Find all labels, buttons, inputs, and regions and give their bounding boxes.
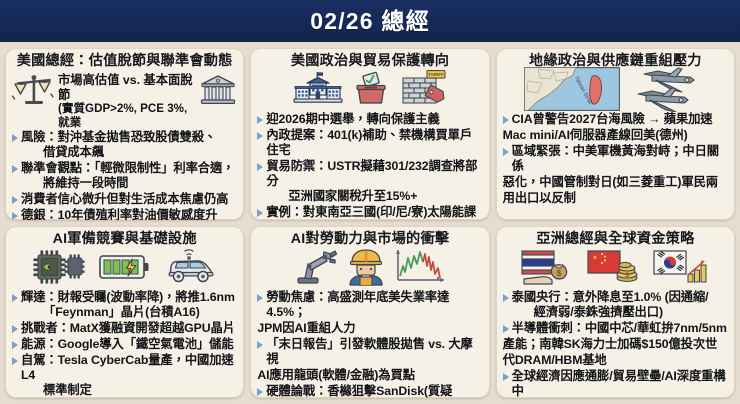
worker-icon: [348, 248, 384, 291]
bullet-marker-icon: [257, 163, 263, 171]
bullet-marker-icon: [12, 294, 18, 302]
card-icon-row: [12, 249, 237, 289]
bullet-text: 自駕：Tesla CyberCab量產，中國加速L4: [21, 353, 234, 382]
bullet-marker-icon: [257, 209, 263, 217]
bullet-text: CIA曾警告2027台海風險 → 蘋果加速: [512, 112, 728, 127]
china-flag-coins-icon: $: [586, 248, 642, 291]
ballot-box-icon: [353, 71, 389, 112]
card-asia-macro-capital: 亞洲總經與全球資金策略 $: [496, 226, 735, 398]
card-title: 美國政治與貿易保護轉向: [257, 53, 482, 69]
bullet-list: 輝達：財報受矚(波動率降)，將推1.6nm「Feynman」晶片(台積A16) …: [12, 290, 237, 398]
list-item: AI應用龍頭(軟體/金融)為買點: [257, 368, 482, 383]
bullet-marker-icon: [257, 132, 263, 140]
bullet-text: 「末日報告」引發軟體股拋售 vs. 大摩視: [266, 337, 482, 367]
cards-grid: 美國總經：估值脫節與聯準會動態: [0, 42, 740, 404]
bullet-marker-icon: [12, 212, 18, 220]
bullet-marker-icon: [12, 357, 18, 365]
card-icon-row: 市場高估值 vs. 基本面脫節 (實質GDP>2%, PCE 3%, 就業: [12, 71, 237, 129]
list-item: 產能；南韓SK海力士加碼$150億投次世: [503, 337, 728, 352]
bullet-text: 泰國央行：意外降息至1.0% (因通縮/: [512, 290, 709, 304]
fighter-jets-icon: [630, 66, 706, 117]
bullet-marker-icon: [503, 294, 509, 302]
svg-text:$: $: [626, 272, 630, 279]
card-geopolitics-supply-chain: 地緣政治與供應鏈重組壓力 Taiwan Strait: [496, 48, 735, 220]
bullet-text-cont: 「Feynman」晶片(台積A16): [21, 305, 237, 320]
bullet-text-cont: 亞洲國家關稅升至15%+: [266, 189, 482, 204]
list-item: 風險：對沖基金拋售恐致股債雙殺、借貸成本飆: [12, 130, 237, 160]
bullet-marker-icon: [503, 373, 509, 381]
thai-flag-money-icon: $: [520, 248, 576, 291]
list-item: 代DRAM/HBM基地: [503, 353, 728, 368]
bullet-text: 勞動焦慮：高盛測年底美失業率達4.5%；: [266, 290, 482, 320]
bullet-marker-icon: [12, 325, 18, 333]
bullet-marker-icon: [257, 388, 263, 396]
list-item: 泰國央行：意外降息至1.0% (因通縮/經濟弱/泰銖強擠壓出口): [503, 290, 728, 320]
bullet-text: 輝達：財報受矚(波動率降)，將推1.6nm: [21, 290, 235, 304]
list-item: 挑戰者：MatX獲融資開發超越GPU晶片: [12, 321, 237, 336]
korea-flag-chart-icon: [652, 248, 710, 291]
bullet-text: 德銀：10年債殖利率對油價敏感度升: [21, 208, 237, 220]
bullet-text-cont: 標準制定: [21, 383, 237, 398]
list-item: 惡化，中國管制對日(如三菱重工)軍民兩: [503, 175, 728, 190]
lead-line-1: 市場高估值 vs. 基本面脫節: [58, 73, 197, 102]
list-item: 半導體衝刺：中國中芯/華虹拚7nm/5nm: [503, 321, 728, 336]
svg-text:$: $: [557, 269, 562, 278]
list-item: 「末日報告」引發軟體股拋售 vs. 大摩視: [257, 337, 482, 367]
card-icon-row: $: [503, 249, 728, 289]
card-title: AI軍備競賽與基礎設施: [12, 231, 237, 247]
list-item: 貿易防禦：USTR擬藉301/232調查將部分亞洲國家關稅升至15%+: [257, 159, 482, 204]
list-item: 實例：對東南亞三國(印/尼/寮)太陽能課徵80-143%反補貼稅以防堵中國: [257, 205, 482, 220]
bank-building-icon: [199, 74, 237, 112]
bullet-text: 貿易防禦：USTR擬藉301/232調查將部分: [266, 159, 477, 188]
bullet-list: 風險：對沖基金拋售恐致股債雙殺、借貸成本飆 聯準會觀點：「輕微限制性」利率合適，…: [12, 130, 237, 220]
bullet-text: 全球經濟因應通膨/貿易壁壘/AI深度重構中: [512, 369, 728, 398]
bullet-list: 迎2026期中選舉，轉向保護主義 內政提案：401(k)補助、禁機構買單戶住宅 …: [257, 112, 482, 220]
list-item: 全球經濟因應通膨/貿易壁壘/AI深度重構中: [503, 369, 728, 398]
bullet-marker-icon: [503, 116, 509, 124]
card-us-politics-trade: 美國政治與貿易保護轉向: [250, 48, 489, 220]
bullet-list: 泰國央行：意外降息至1.0% (因通縮/經濟弱/泰銖強擠壓出口) 半導體衝刺：中…: [503, 290, 728, 398]
bullet-marker-icon: [257, 116, 263, 124]
card-title: 美國總經：估值脫節與聯準會動態: [12, 53, 237, 69]
bullet-text: 消費者信心微升但對生活成本焦慮仍高: [21, 192, 237, 207]
card-icon-row: TARIFF: [257, 71, 482, 111]
list-item: 聯準會觀點：「輕微限制性」利率合適，將維持一段時間: [12, 161, 237, 191]
list-item: Mac mini/AI伺服器產線回美(德州): [503, 128, 728, 143]
bullet-marker-icon: [503, 325, 509, 333]
bullet-text: 內政提案：401(k)補助、禁機構買單戶住宅: [266, 128, 482, 158]
bullet-text: JPM因AI重組人力: [257, 321, 482, 336]
list-item: 硬體論戰：香櫞狙擊SanDisk(質疑NAND: [257, 384, 482, 398]
bullet-text: 產能；南韓SK海力士加碼$150億投次世: [503, 337, 728, 352]
bullet-text-cont: 將維持一段時間: [21, 176, 237, 191]
bullet-text-cont: 借貸成本飆: [21, 145, 237, 160]
bullet-text: 區域緊張：中美軍機黃海對峙；中日關係: [512, 144, 728, 174]
bullet-text: 硬體論戰：香櫞狙擊SanDisk(質疑NAND: [266, 384, 482, 398]
list-item: 自駕：Tesla CyberCab量產，中國加速L4標準制定: [12, 353, 237, 398]
page-title: 02/26 總經: [310, 10, 430, 33]
bullet-text-cont: 經濟弱/泰銖強擠壓出口): [512, 305, 728, 320]
bullet-text: 風險：對沖基金拋售恐致股債雙殺、: [21, 130, 216, 144]
list-item: 輝達：財報受矚(波動率降)，將推1.6nm「Feynman」晶片(台積A16): [12, 290, 237, 320]
card-title: AI對勞動力與市場的衝擊: [257, 231, 482, 247]
card-us-macro: 美國總經：估值脫節與聯準會動態: [5, 48, 244, 220]
page-header: 02/26 總經: [0, 0, 740, 42]
card-lead-text: 市場高估值 vs. 基本面脫節 (實質GDP>2%, PCE 3%, 就業: [58, 71, 237, 129]
list-item: 用出口以反制: [503, 191, 728, 206]
list-item: 能源：Google導入「鐵空氣電池」儲能: [12, 337, 237, 352]
balance-scale-icon: [12, 72, 56, 115]
bullet-text: 迎2026期中選舉，轉向保護主義: [266, 112, 482, 127]
white-house-icon: [293, 71, 343, 112]
list-item: 內政提案：401(k)補助、禁機構買單戶住宅: [257, 128, 482, 158]
card-ai-labor-market: AI對勞動力與市場的衝擊: [250, 226, 489, 398]
bullet-text: 聯準會觀點：「輕微限制性」利率合適，: [21, 161, 234, 175]
bullet-list: 勞動焦慮：高盛測年底美失業率達4.5%； JPM因AI重組人力 「末日報告」引發…: [257, 290, 482, 398]
bullet-text: 能源：Google導入「鐵空氣電池」儲能: [21, 337, 237, 352]
bullet-marker-icon: [503, 148, 509, 156]
card-ai-arms-race: AI軍備競賽與基礎設施: [5, 226, 244, 398]
bullet-marker-icon: [12, 341, 18, 349]
list-item: CIA曾警告2027台海風險 → 蘋果加速: [503, 112, 728, 127]
bullet-marker-icon: [12, 196, 18, 204]
taiwan-strait-map-icon: Taiwan Strait: [524, 67, 620, 116]
card-title: 亞洲總經與全球資金策略: [503, 231, 728, 247]
bullet-text: 代DRAM/HBM基地: [503, 353, 728, 368]
lead-line-2: (實質GDP>2%, PCE 3%, 就業: [58, 102, 197, 129]
bullet-text: 挑戰者：MatX獲融資開發超越GPU晶片: [21, 321, 237, 336]
cpu-chip-icon: [32, 249, 88, 290]
bullet-text: Mac mini/AI伺服器產線回美(德州): [503, 128, 728, 143]
bullet-list: CIA曾警告2027台海風險 → 蘋果加速 Mac mini/AI伺服器產線回美…: [503, 112, 728, 216]
bullet-text: 半導體衝刺：中國中芯/華虹拚7nm/5nm: [512, 321, 728, 336]
list-item: JPM因AI重組人力: [257, 321, 482, 336]
battery-icon: [98, 251, 150, 288]
svg-text:TARIFF: TARIFF: [428, 72, 444, 77]
tariff-wall-icon: TARIFF: [399, 70, 447, 113]
list-item: 區域緊張：中美軍機黃海對峙；中日關係: [503, 144, 728, 174]
volatility-chart-icon: [394, 248, 446, 291]
list-item: 勞動焦慮：高盛測年底美失業率達4.5%；: [257, 290, 482, 320]
bullet-text: 實例：對東南亞三國(印/尼/寮)太陽能課徵: [266, 205, 476, 220]
robot-arm-icon: [294, 248, 338, 291]
bullet-text: 惡化，中國管制對日(如三菱重工)軍民兩: [503, 175, 728, 190]
card-icon-row: [257, 249, 482, 289]
list-item: 消費者信心微升但對生活成本焦慮仍高: [12, 192, 237, 207]
bullet-marker-icon: [12, 165, 18, 173]
bullet-text: 用出口以反制: [503, 191, 728, 206]
bullet-marker-icon: [257, 341, 263, 349]
bullet-marker-icon: [12, 134, 18, 142]
list-item: 迎2026期中選舉，轉向保護主義: [257, 112, 482, 127]
bullet-text: AI應用龍頭(軟體/金融)為買點: [257, 368, 482, 383]
card-icon-row: Taiwan Strait: [503, 71, 728, 111]
bullet-marker-icon: [257, 294, 263, 302]
list-item: 德銀：10年債殖利率對油價敏感度升: [12, 208, 237, 220]
self-driving-car-icon: [160, 249, 218, 290]
